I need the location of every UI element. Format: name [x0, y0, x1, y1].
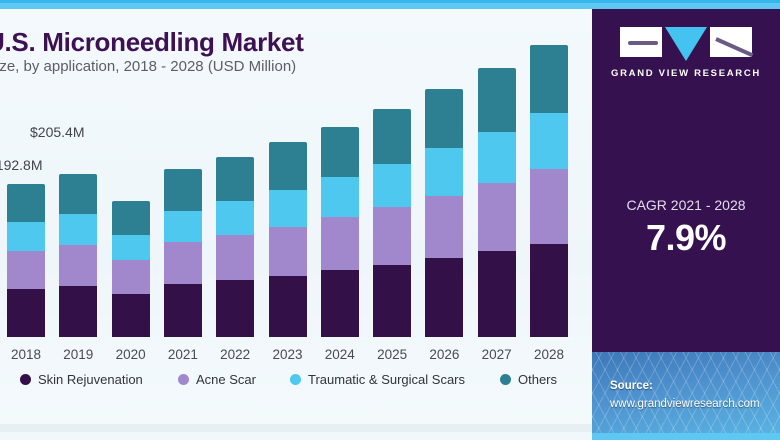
brand-logo: GRAND VIEW RESEARCH [592, 27, 780, 79]
panel-base-strip [0, 424, 592, 432]
brand-name: GRAND VIEW RESEARCH [611, 68, 761, 79]
bar-segment[interactable] [59, 245, 97, 286]
bar-segment[interactable] [112, 235, 150, 261]
source-label: Source: [610, 380, 653, 392]
stacked-bar-plot: 2018201920202021202220232024202520262027… [0, 9, 592, 432]
bar-segment[interactable] [112, 201, 150, 235]
legend-swatch-icon [20, 374, 31, 385]
bar-segment[interactable] [425, 258, 463, 337]
bar-segment[interactable] [530, 169, 568, 244]
bar-segment[interactable] [321, 217, 359, 270]
legend-swatch-icon [500, 374, 511, 385]
bar-group[interactable] [164, 169, 202, 337]
legend-swatch-icon [178, 374, 189, 385]
bar-segment[interactable] [425, 148, 463, 195]
legend-swatch-icon [290, 374, 301, 385]
brand-panel: GRAND VIEW RESEARCH CAGR 2021 - 2028 7.9… [592, 9, 780, 440]
bar-group[interactable] [425, 89, 463, 337]
bar-segment[interactable] [112, 260, 150, 294]
bar-segment[interactable] [373, 164, 411, 207]
bar-segment[interactable] [164, 169, 202, 210]
bar-segment[interactable] [478, 183, 516, 251]
bar-segment[interactable] [112, 294, 150, 337]
bar-segment[interactable] [164, 242, 202, 284]
x-axis-label: 2023 [261, 347, 315, 362]
cagr-label: CAGR 2021 - 2028 [592, 197, 780, 213]
x-axis-label: 2026 [417, 347, 471, 362]
bar-group[interactable] [530, 45, 568, 337]
top-accent-bar [0, 0, 780, 9]
bar-segment[interactable] [216, 157, 254, 201]
bar-segment[interactable] [373, 265, 411, 337]
x-axis-label: 2024 [313, 347, 367, 362]
bar-segment[interactable] [373, 109, 411, 163]
legend-label: Others [518, 372, 557, 387]
legend-item[interactable]: Traumatic & Surgical Scars [290, 372, 465, 387]
bar-segment[interactable] [216, 235, 254, 280]
x-axis-label: 2018 [0, 347, 53, 362]
bar-segment[interactable] [59, 286, 97, 337]
bar-segment[interactable] [321, 127, 359, 178]
bar-segment[interactable] [530, 113, 568, 169]
bar-segment[interactable] [269, 190, 307, 227]
logo-g-icon [620, 27, 662, 57]
bar-group[interactable] [373, 109, 411, 337]
bar-segment[interactable] [269, 276, 307, 337]
bar-group[interactable] [269, 142, 307, 337]
bar-segment[interactable] [425, 196, 463, 259]
logo-r-icon [710, 27, 752, 57]
top-accent-highlight [0, 0, 780, 3]
bar-group[interactable] [478, 68, 516, 337]
x-axis-label: 2019 [51, 347, 105, 362]
bar-group[interactable] [7, 184, 45, 337]
bar-segment[interactable] [7, 289, 45, 337]
bar-segment[interactable] [269, 142, 307, 189]
cagr-value: 7.9% [592, 217, 780, 259]
bar-segment[interactable] [7, 184, 45, 222]
x-axis-label: 2020 [104, 347, 158, 362]
bar-segment[interactable] [478, 68, 516, 132]
gvr-logo-marks [620, 27, 752, 61]
bar-segment[interactable] [530, 45, 568, 113]
x-axis-label: 2028 [522, 347, 576, 362]
bar-segment[interactable] [7, 251, 45, 289]
x-axis-label: 2021 [156, 347, 210, 362]
bar-segment[interactable] [164, 211, 202, 243]
chart-panel: U.S. Microneedling Market Size, by appli… [0, 9, 592, 432]
bar-group[interactable] [59, 174, 97, 337]
bar-segment[interactable] [59, 214, 97, 245]
bar-group[interactable] [112, 201, 150, 337]
bar-segment[interactable] [478, 251, 516, 337]
bar-segment[interactable] [425, 89, 463, 148]
bar-segment[interactable] [7, 222, 45, 251]
x-axis-label: 2022 [208, 347, 262, 362]
bar-segment[interactable] [269, 227, 307, 276]
bar-segment[interactable] [478, 132, 516, 183]
legend-label: Traumatic & Surgical Scars [308, 372, 465, 387]
legend-item[interactable]: Acne Scar [178, 372, 256, 387]
mesh-bottom-accent [592, 433, 780, 440]
bar-segment[interactable] [530, 244, 568, 337]
bar-group[interactable] [216, 157, 254, 337]
bar-group[interactable] [321, 127, 359, 337]
bar-segment[interactable] [321, 270, 359, 337]
bar-segment[interactable] [373, 207, 411, 265]
bar-segment[interactable] [164, 284, 202, 337]
bar-segment[interactable] [216, 280, 254, 337]
x-axis-label: 2027 [470, 347, 524, 362]
legend-label: Skin Rejuvenation [38, 372, 143, 387]
infographic-root: U.S. Microneedling Market Size, by appli… [0, 0, 780, 440]
mesh-footer-graphic [592, 352, 780, 440]
bar-segment[interactable] [216, 201, 254, 235]
x-axis-label: 2025 [365, 347, 419, 362]
logo-v-icon [665, 27, 707, 61]
legend-item[interactable]: Others [500, 372, 557, 387]
legend-item[interactable]: Skin Rejuvenation [20, 372, 143, 387]
bar-segment[interactable] [321, 177, 359, 217]
bar-segment[interactable] [59, 174, 97, 214]
source-url[interactable]: www.grandviewresearch.com [610, 398, 760, 410]
legend-label: Acne Scar [196, 372, 256, 387]
chart-legend: Skin RejuvenationAcne ScarTraumatic & Su… [0, 372, 592, 392]
